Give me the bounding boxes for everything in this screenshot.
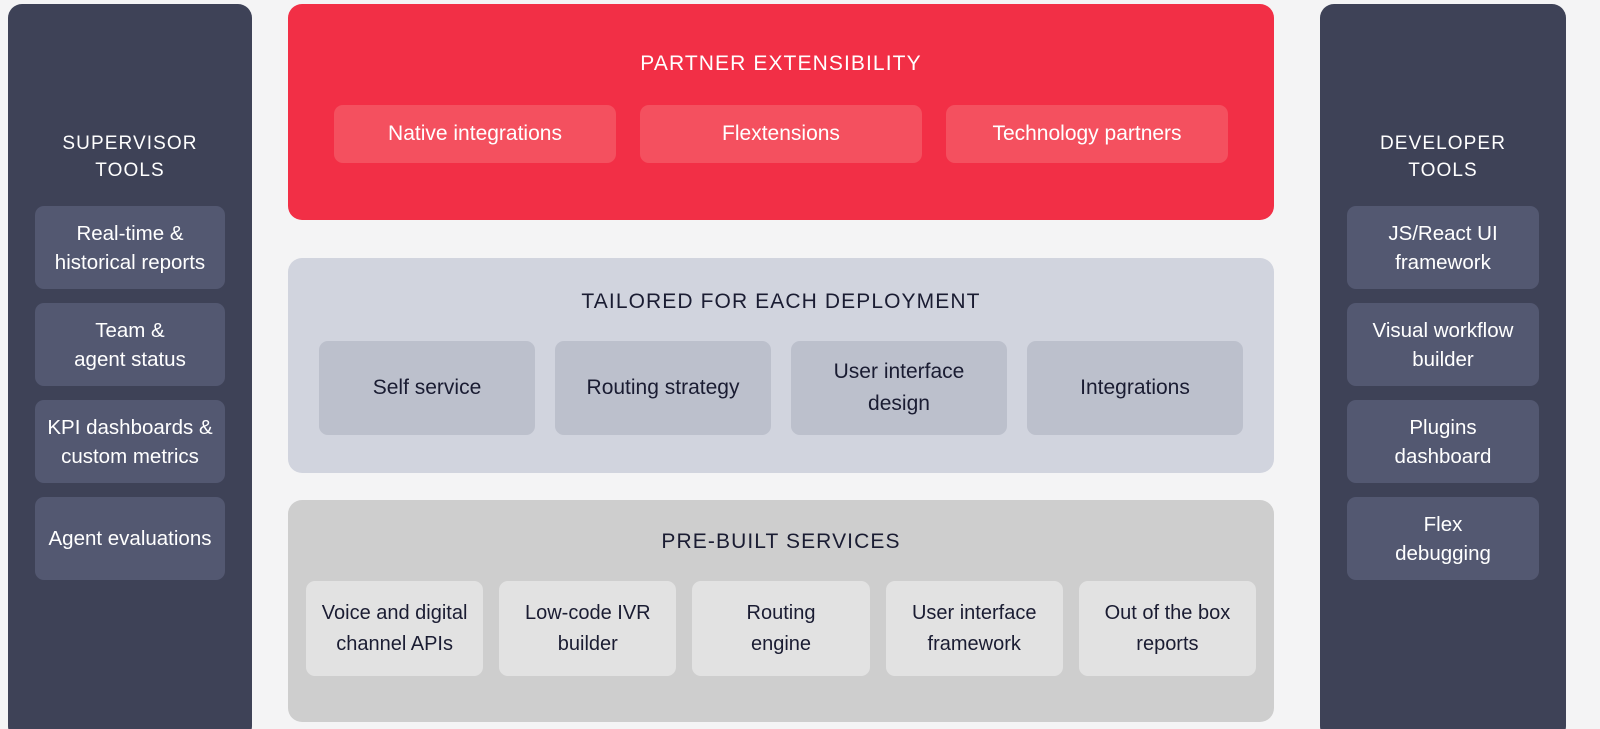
pre-built-services-chip[interactable]: Voice and digital channel APIs xyxy=(306,581,483,676)
tailored-deployment-chip[interactable]: Self service xyxy=(319,341,535,435)
supervisor-tools-title: SUPERVISOR TOOLS xyxy=(62,130,197,184)
supervisor-tools-rail: SUPERVISOR TOOLS Real-time & historical … xyxy=(8,4,252,729)
pre-built-services-chip[interactable]: User interface framework xyxy=(886,581,1063,676)
partner-extensibility-chip[interactable]: Native integrations xyxy=(334,105,616,163)
partner-extensibility-title: PARTNER EXTENSIBILITY xyxy=(334,52,1228,76)
pre-built-services-chip[interactable]: Out of the box reports xyxy=(1079,581,1256,676)
tailored-deployment-chip[interactable]: User interface design xyxy=(791,341,1007,435)
supervisor-tools-card[interactable]: KPI dashboards & custom metrics xyxy=(35,400,225,483)
developer-tools-rail: DEVELOPER TOOLS JS/React UI framework Vi… xyxy=(1320,4,1566,729)
tailored-deployment-title: TAILORED FOR EACH DEPLOYMENT xyxy=(319,290,1243,314)
developer-tools-card[interactable]: Flex debugging xyxy=(1347,497,1539,580)
pre-built-services-title: PRE-BUILT SERVICES xyxy=(306,530,1256,554)
developer-tools-card[interactable]: Plugins dashboard xyxy=(1347,400,1539,483)
partner-extensibility-chip[interactable]: Technology partners xyxy=(946,105,1228,163)
pre-built-services-chip[interactable]: Routing engine xyxy=(692,581,869,676)
architecture-diagram: SUPERVISOR TOOLS Real-time & historical … xyxy=(0,0,1600,729)
partner-extensibility-chip-row: Native integrations Flextensions Technol… xyxy=(334,105,1228,163)
developer-tools-card[interactable]: JS/React UI framework xyxy=(1347,206,1539,289)
supervisor-tools-card[interactable]: Real-time & historical reports xyxy=(35,206,225,289)
supervisor-tools-card[interactable]: Agent evaluations xyxy=(35,497,225,580)
pre-built-services-chip[interactable]: Low-code IVR builder xyxy=(499,581,676,676)
tailored-deployment-chip[interactable]: Integrations xyxy=(1027,341,1243,435)
supervisor-tools-card[interactable]: Team & agent status xyxy=(35,303,225,386)
partner-extensibility-chip[interactable]: Flextensions xyxy=(640,105,922,163)
pre-built-services-panel: PRE-BUILT SERVICES Voice and digital cha… xyxy=(288,500,1274,722)
tailored-deployment-panel: TAILORED FOR EACH DEPLOYMENT Self servic… xyxy=(288,258,1274,473)
tailored-deployment-chip-row: Self service Routing strategy User inter… xyxy=(319,341,1243,435)
tailored-deployment-chip[interactable]: Routing strategy xyxy=(555,341,771,435)
partner-extensibility-panel: PARTNER EXTENSIBILITY Native integration… xyxy=(288,4,1274,220)
pre-built-services-chip-row: Voice and digital channel APIs Low-code … xyxy=(306,581,1256,676)
developer-tools-card[interactable]: Visual workflow builder xyxy=(1347,303,1539,386)
developer-tools-title: DEVELOPER TOOLS xyxy=(1380,130,1506,184)
